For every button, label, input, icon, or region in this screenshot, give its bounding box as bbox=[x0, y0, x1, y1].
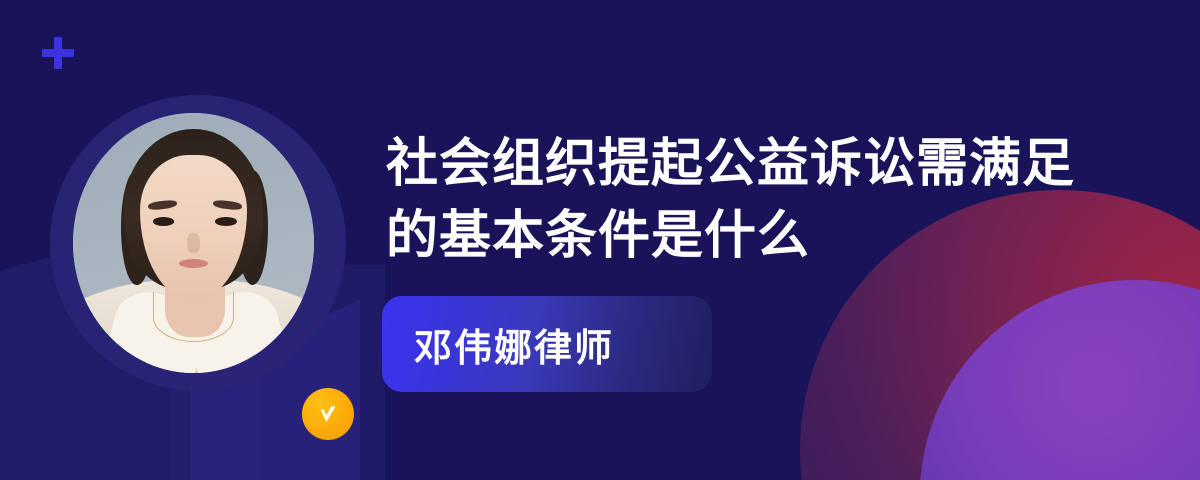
avatar[interactable] bbox=[50, 95, 346, 391]
avatar-eye-left bbox=[153, 217, 175, 226]
avatar-lips bbox=[179, 259, 208, 268]
verified-check-icon bbox=[302, 388, 354, 440]
page-title: 社会组织提起公益诉讼需满足的基本条件是什么 bbox=[386, 128, 1086, 272]
author-name: 邓伟娜律师 bbox=[382, 317, 614, 372]
avatar-eye-right bbox=[215, 217, 237, 226]
avatar-photo bbox=[73, 113, 314, 373]
avatar-necklace bbox=[153, 292, 235, 341]
lawyer-qa-banner: 社会组织提起公益诉讼需满足的基本条件是什么 邓伟娜律师 bbox=[0, 0, 1200, 480]
plus-icon bbox=[42, 37, 74, 69]
plus-icon-bar-vertical bbox=[54, 37, 62, 69]
author-badge[interactable]: 邓伟娜律师 bbox=[382, 296, 712, 392]
avatar-nose bbox=[187, 233, 199, 254]
